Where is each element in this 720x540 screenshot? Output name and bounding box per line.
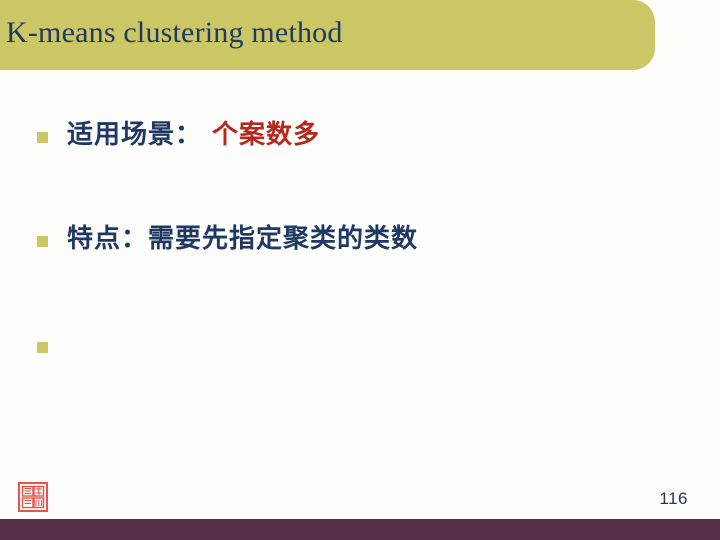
bullet-label: 特点：需要先指定聚类的类数 — [67, 224, 418, 254]
slide-body: 适用场景：个案数多 特点：需要先指定聚类的类数 — [0, 70, 720, 470]
slide-canvas: K-means clustering method 适用场景：个案数多 特点：需… — [0, 0, 720, 540]
page-number: 116 — [659, 489, 688, 509]
bullet-label: 适用场景： — [67, 120, 202, 150]
chinese-seal-stamp-icon — [18, 482, 48, 512]
footer-bar — [0, 519, 720, 540]
page-title: K-means clustering method — [6, 0, 343, 70]
list-item: 适用场景：个案数多 — [0, 118, 320, 152]
square-bullet-icon — [37, 342, 48, 353]
square-bullet-icon — [37, 132, 48, 143]
list-item — [0, 328, 67, 353]
bullet-text: 特点：需要先指定聚类的类数 — [67, 222, 418, 256]
bullet-text: 适用场景：个案数多 — [67, 118, 320, 152]
title-bar: K-means clustering method — [0, 0, 655, 70]
bullet-accent: 个案数多 — [212, 120, 320, 150]
square-bullet-icon — [37, 236, 48, 247]
list-item: 特点：需要先指定聚类的类数 — [0, 222, 418, 256]
